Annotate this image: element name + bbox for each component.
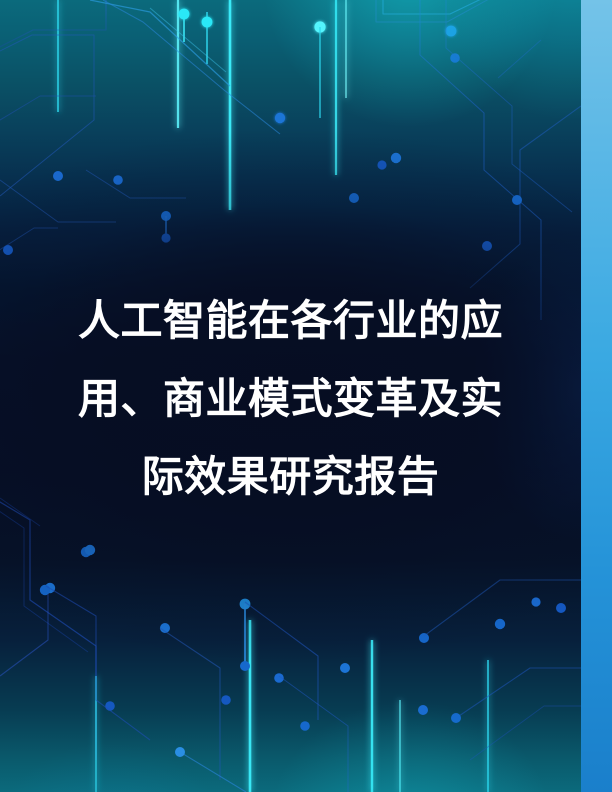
circuit-verticals-bottom [45,547,532,792]
report-cover-page: 人工智能在各行业的应 用、商业模式变革及实 际效果研究报告 [0,0,612,792]
circuit-diagonals-bottom [0,498,581,792]
right-accent-bar [581,0,612,792]
circuit-glow-stems-top [58,0,346,210]
cover-title: 人工智能在各行业的应 用、商业模式变革及实 际效果研究报告 [0,282,581,516]
title-line-3: 际效果研究报告 [0,438,581,516]
circuit-nodes-top [179,9,460,192]
circuit-glow-stems-bottom [96,620,488,792]
circuit-mid-nodes [86,153,522,264]
title-line-2: 用、商业模式变革及实 [0,360,581,438]
title-line-1: 人工智能在各行业的应 [0,282,581,360]
circuit-hex-left [0,490,96,760]
